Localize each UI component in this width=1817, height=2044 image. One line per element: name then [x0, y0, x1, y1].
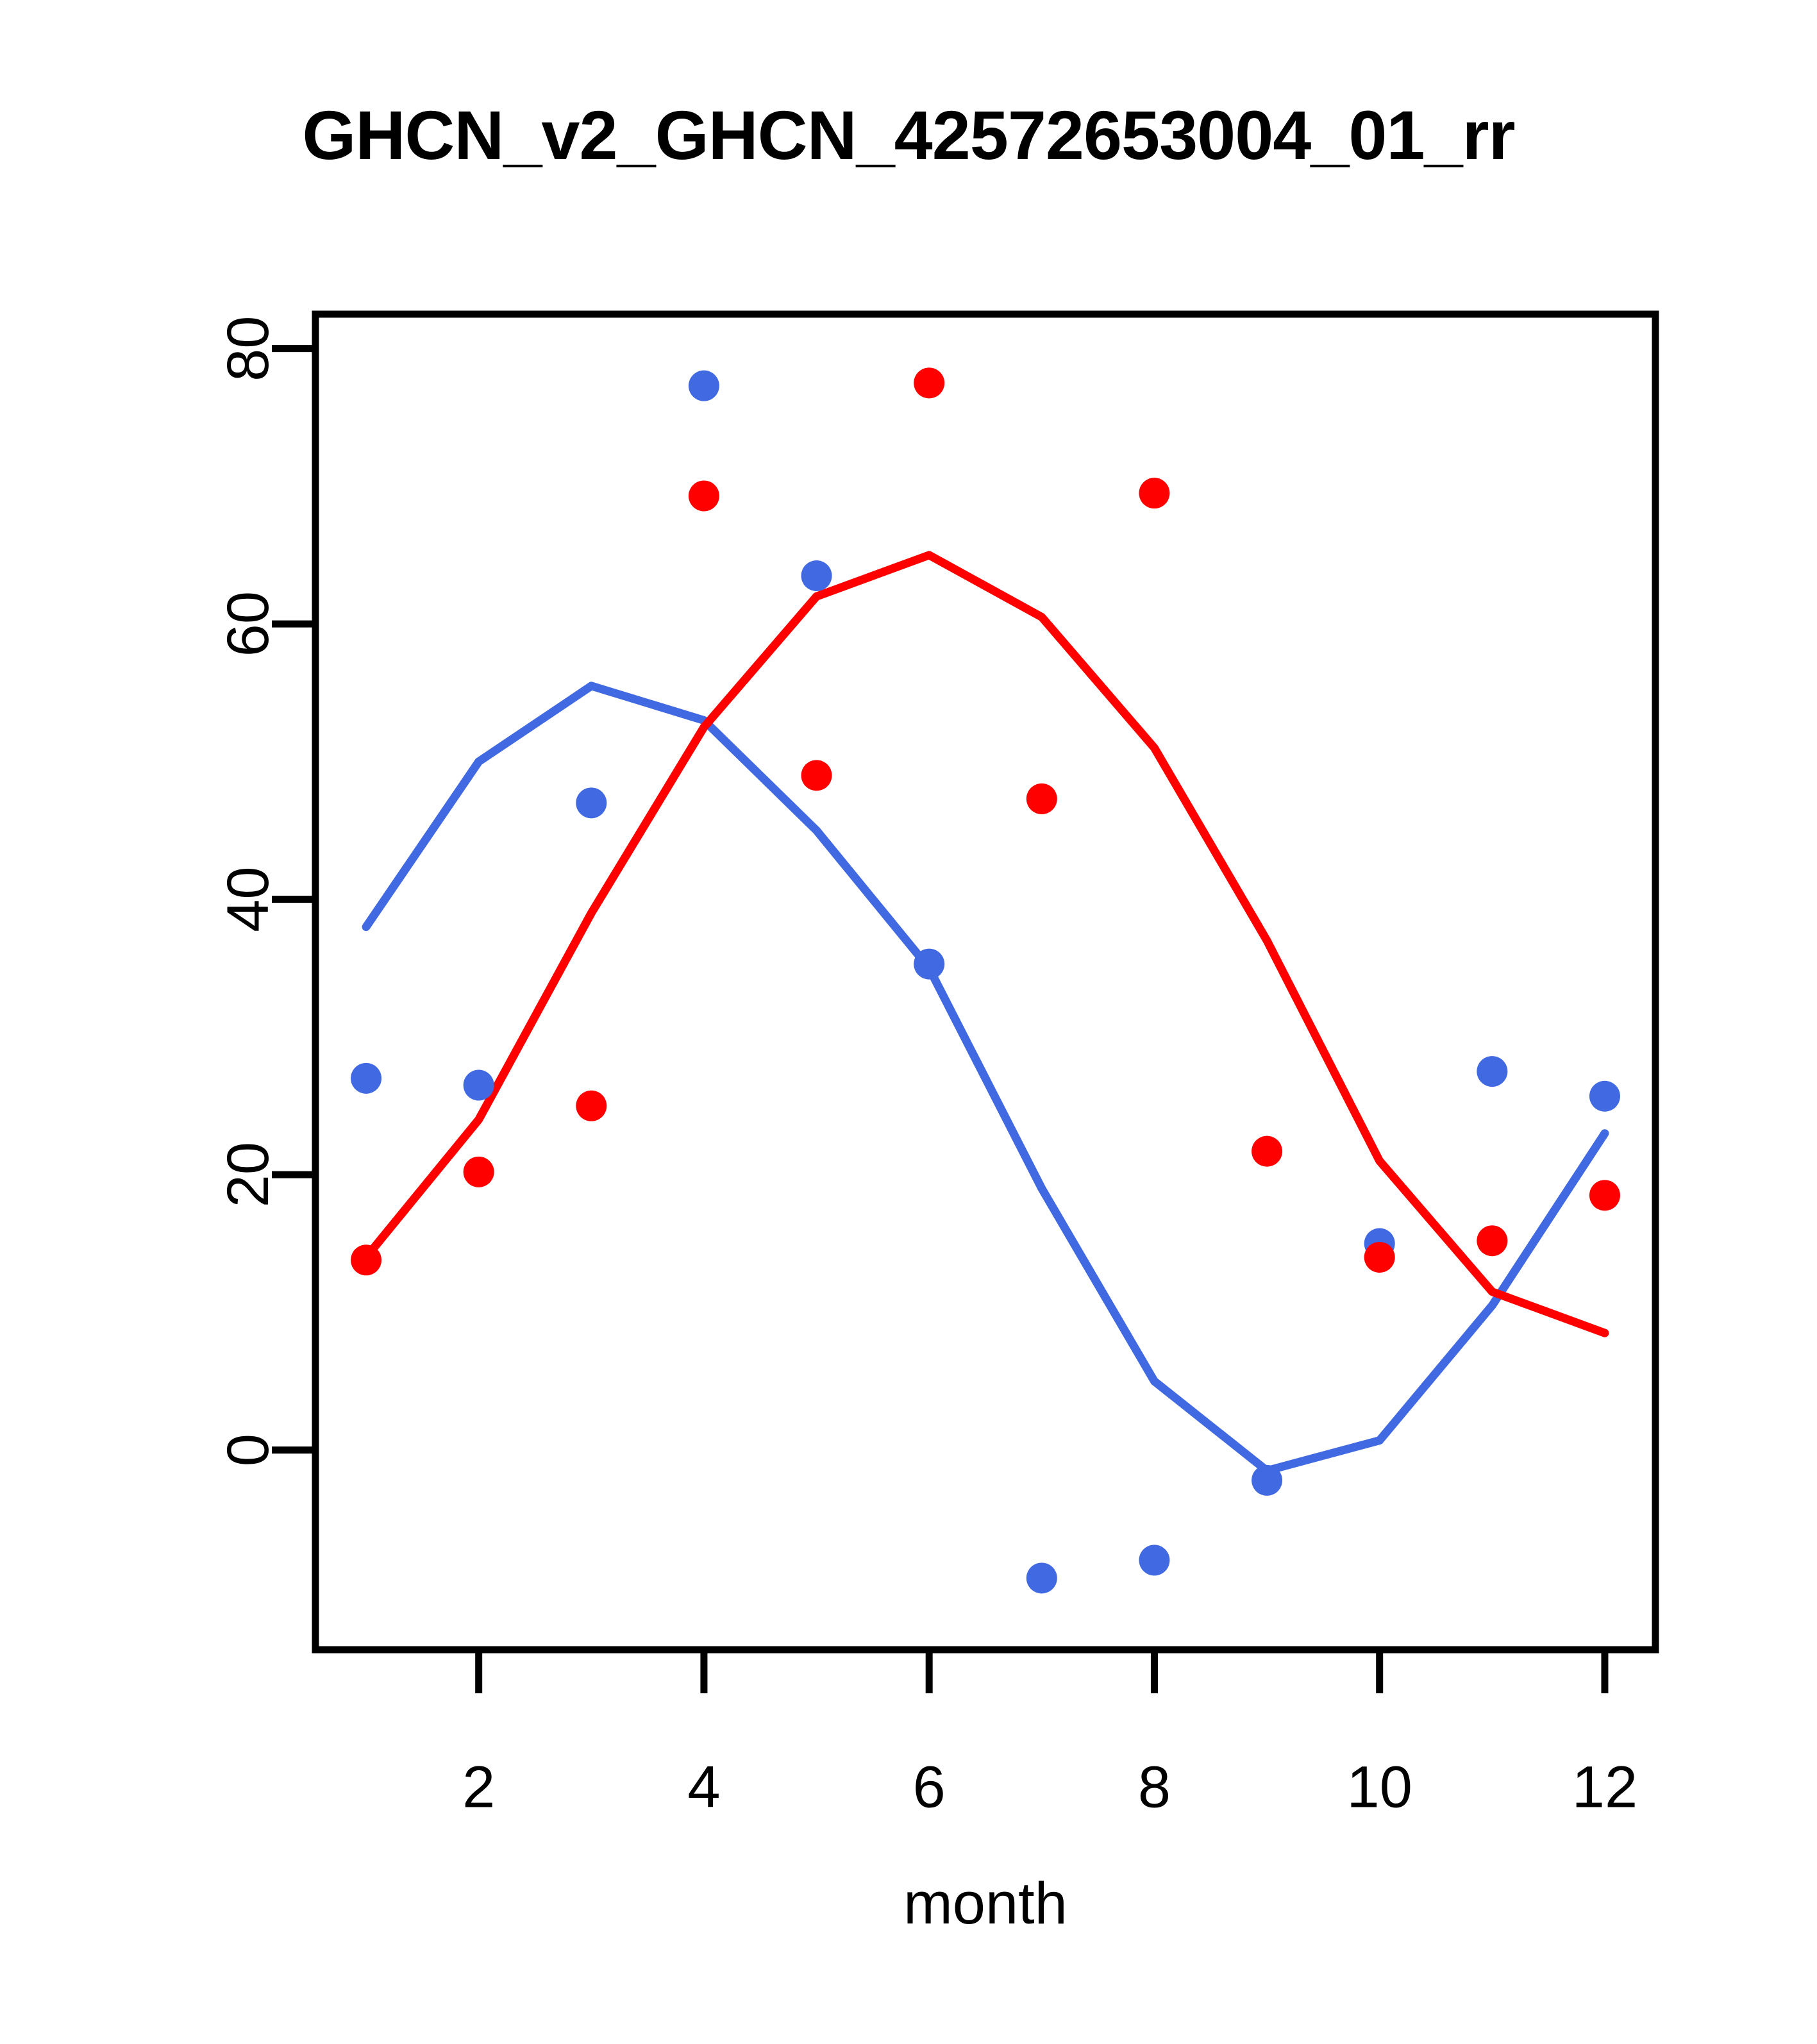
data-point-red-points: [576, 1091, 607, 1121]
data-point-red-points: [1589, 1180, 1620, 1210]
data-point-red-points: [1139, 478, 1169, 508]
series-line-red-line: [366, 555, 1605, 1333]
y-tick-label: 40: [215, 866, 281, 932]
data-point-blue-points: [1589, 1081, 1620, 1112]
data-point-blue-points: [1026, 1562, 1057, 1593]
data-point-blue-points: [1252, 1465, 1282, 1496]
data-series-group: [351, 367, 1620, 1593]
data-point-blue-points: [1477, 1056, 1507, 1087]
y-tick-label: 60: [215, 591, 281, 657]
y-tick-label: 20: [215, 1142, 281, 1207]
data-point-red-points: [1252, 1136, 1282, 1167]
data-point-red-points: [464, 1157, 494, 1187]
y-tick-label: 0: [215, 1434, 281, 1466]
data-point-red-points: [1364, 1242, 1395, 1273]
data-point-red-points: [689, 480, 719, 511]
data-point-red-points: [351, 1244, 381, 1275]
data-point-red-points: [1026, 783, 1057, 814]
data-point-red-points: [1477, 1225, 1507, 1256]
plot-figure: GHCN_v2_GHCN_42572653004_01_rr 020406080…: [0, 0, 1817, 2044]
x-tick-label: 12: [1572, 1755, 1637, 1820]
y-axis: 020406080: [215, 316, 315, 1467]
x-tick-label: 4: [687, 1755, 720, 1820]
x-tick-label: 8: [1138, 1755, 1171, 1820]
plot-frame: [315, 314, 1655, 1650]
data-point-blue-points: [1139, 1545, 1169, 1575]
data-point-blue-points: [464, 1070, 494, 1101]
chart-canvas: 020406080 24681012 month: [0, 0, 1817, 2044]
x-tick-label: 6: [913, 1755, 946, 1820]
y-tick-label: 80: [215, 316, 281, 381]
data-point-red-points: [801, 760, 832, 791]
x-tick-label: 2: [462, 1755, 495, 1820]
data-point-blue-points: [801, 560, 832, 591]
x-axis-title: month: [903, 1871, 1068, 1936]
data-point-blue-points: [914, 949, 944, 980]
data-point-red-points: [914, 367, 944, 398]
data-point-blue-points: [576, 787, 607, 818]
x-tick-label: 10: [1347, 1755, 1412, 1820]
series-line-blue-line: [366, 686, 1605, 1471]
data-point-blue-points: [689, 371, 719, 401]
x-axis: 24681012: [462, 1650, 1637, 1820]
data-point-blue-points: [351, 1063, 381, 1094]
